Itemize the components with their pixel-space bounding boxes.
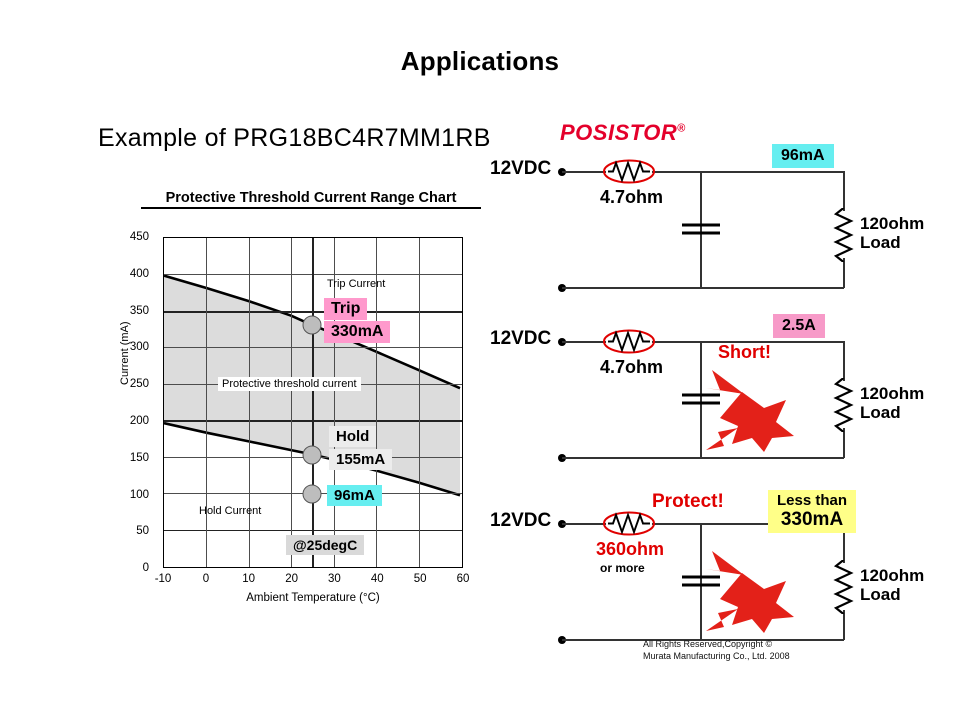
x-tick-0: 0 (203, 573, 209, 585)
load-label-1: 120ohm Load (860, 214, 924, 252)
trip-point-marker (303, 316, 322, 335)
x-tick-40: 40 (371, 573, 384, 585)
threshold-current-chart: Protective Threshold Current Range Chart… (133, 190, 483, 610)
x-tick-minus10: -10 (155, 573, 172, 585)
gridline-v-10 (249, 238, 250, 567)
x-tick-60: 60 (457, 573, 470, 585)
x-tick-30: 30 (328, 573, 341, 585)
example-label: Example of PRG18BC4R7MM1RB (98, 124, 491, 153)
gridline-v-25 (312, 238, 314, 567)
wire-bottom-2 (562, 457, 844, 459)
copyright-notice: All Rights Reserved,Copyright © Murata M… (643, 638, 790, 662)
registered-trademark-icon: ® (677, 123, 686, 135)
wire-load-bottom-1 (843, 258, 845, 288)
operating-chip: 96mA (327, 485, 382, 506)
temperature-note: @25degC (286, 535, 364, 555)
load-value-1: 120ohm (860, 214, 924, 233)
current-badge-3: Less than 330mA (768, 490, 856, 533)
wire-load-bottom-3 (843, 610, 845, 640)
wire-top-left-2 (562, 341, 606, 343)
y-tick-450: 450 (109, 231, 149, 243)
wire-top-left-3 (562, 523, 606, 525)
hold-current-label: Hold Current (199, 505, 261, 517)
posistor-value-3: 360ohm (596, 539, 664, 560)
x-tick-10: 10 (242, 573, 255, 585)
current-badge-1: 96mA (772, 144, 834, 168)
badge-line2-3: 330mA (777, 510, 847, 531)
current-badge-2: 2.5A (773, 314, 825, 338)
hold-chip-line1: Hold (329, 426, 376, 447)
trip-chip-line2: 330mA (324, 321, 390, 343)
y-axis-label: Current (mA) (119, 321, 131, 385)
wire-bottom-1 (562, 287, 844, 289)
trip-chip-line1: Trip (324, 298, 367, 320)
x-axis-label: Ambient Temperature (°C) (163, 592, 463, 604)
capacitor-symbol-1 (680, 214, 722, 244)
load-text-2: Load (860, 403, 924, 422)
wire-load-bottom-2 (843, 428, 845, 458)
circuit-short-circuit: 12VDC 4.7ohm Short! 120ohm Load 2.5A (490, 310, 890, 495)
load-label-3: 120ohm Load (860, 566, 924, 604)
posistor-symbol-2 (602, 327, 656, 356)
load-text-3: Load (860, 585, 924, 604)
band-label: Protective threshold current (218, 377, 361, 391)
y-tick-350: 350 (109, 305, 149, 317)
supply-label-3: 12VDC (490, 510, 551, 532)
y-tick-100: 100 (109, 489, 149, 501)
y-tick-400: 400 (109, 268, 149, 280)
load-resistor-symbol-2 (833, 378, 854, 432)
gridline-v-0 (206, 238, 207, 567)
chart-title: Protective Threshold Current Range Chart (141, 190, 481, 209)
y-tick-50: 50 (109, 525, 149, 537)
operating-point-marker (303, 485, 322, 504)
fault-label-2: Short! (718, 342, 771, 363)
badge-line1-3: Less than (777, 493, 847, 510)
y-tick-0: 0 (109, 562, 149, 574)
gridline-v-50 (419, 238, 420, 567)
load-resistor-symbol-1 (833, 208, 854, 262)
supply-label-1: 12VDC (490, 158, 551, 180)
circuit-normal-operation: 12VDC 4.7ohm 120ohm Load 96mA (490, 140, 890, 325)
wire-top-right-1 (652, 171, 844, 173)
posistor-symbol-3 (602, 509, 656, 538)
posistor-subnote-3: or more (600, 561, 645, 575)
x-tick-20: 20 (285, 573, 298, 585)
trip-current-label: Trip Current (327, 278, 385, 290)
load-value-3: 120ohm (860, 566, 924, 585)
posistor-value-1: 4.7ohm (600, 187, 663, 208)
load-text-1: Load (860, 233, 924, 252)
posistor-value-2: 4.7ohm (600, 357, 663, 378)
wire-load-top-1 (843, 171, 845, 211)
status-label-3: Protect! (652, 491, 724, 513)
wire-top-left-1 (562, 171, 606, 173)
hold-point-marker (303, 445, 322, 464)
posistor-symbol-1 (602, 157, 656, 186)
short-circuit-burst-icon-2 (698, 366, 810, 452)
hold-chip-line2: 155mA (329, 449, 392, 470)
x-tick-50: 50 (414, 573, 427, 585)
load-resistor-symbol-3 (833, 560, 854, 614)
load-value-2: 120ohm (860, 384, 924, 403)
y-tick-150: 150 (109, 452, 149, 464)
page-title: Applications (0, 46, 960, 77)
supply-label-2: 12VDC (490, 328, 551, 350)
plot-area: Trip Current Protective threshold curren… (163, 237, 463, 568)
y-tick-200: 200 (109, 415, 149, 427)
load-label-2: 120ohm Load (860, 384, 924, 422)
short-circuit-burst-icon-3 (698, 547, 810, 633)
wire-load-top-2 (843, 341, 845, 381)
gridline-v-20 (291, 238, 292, 567)
